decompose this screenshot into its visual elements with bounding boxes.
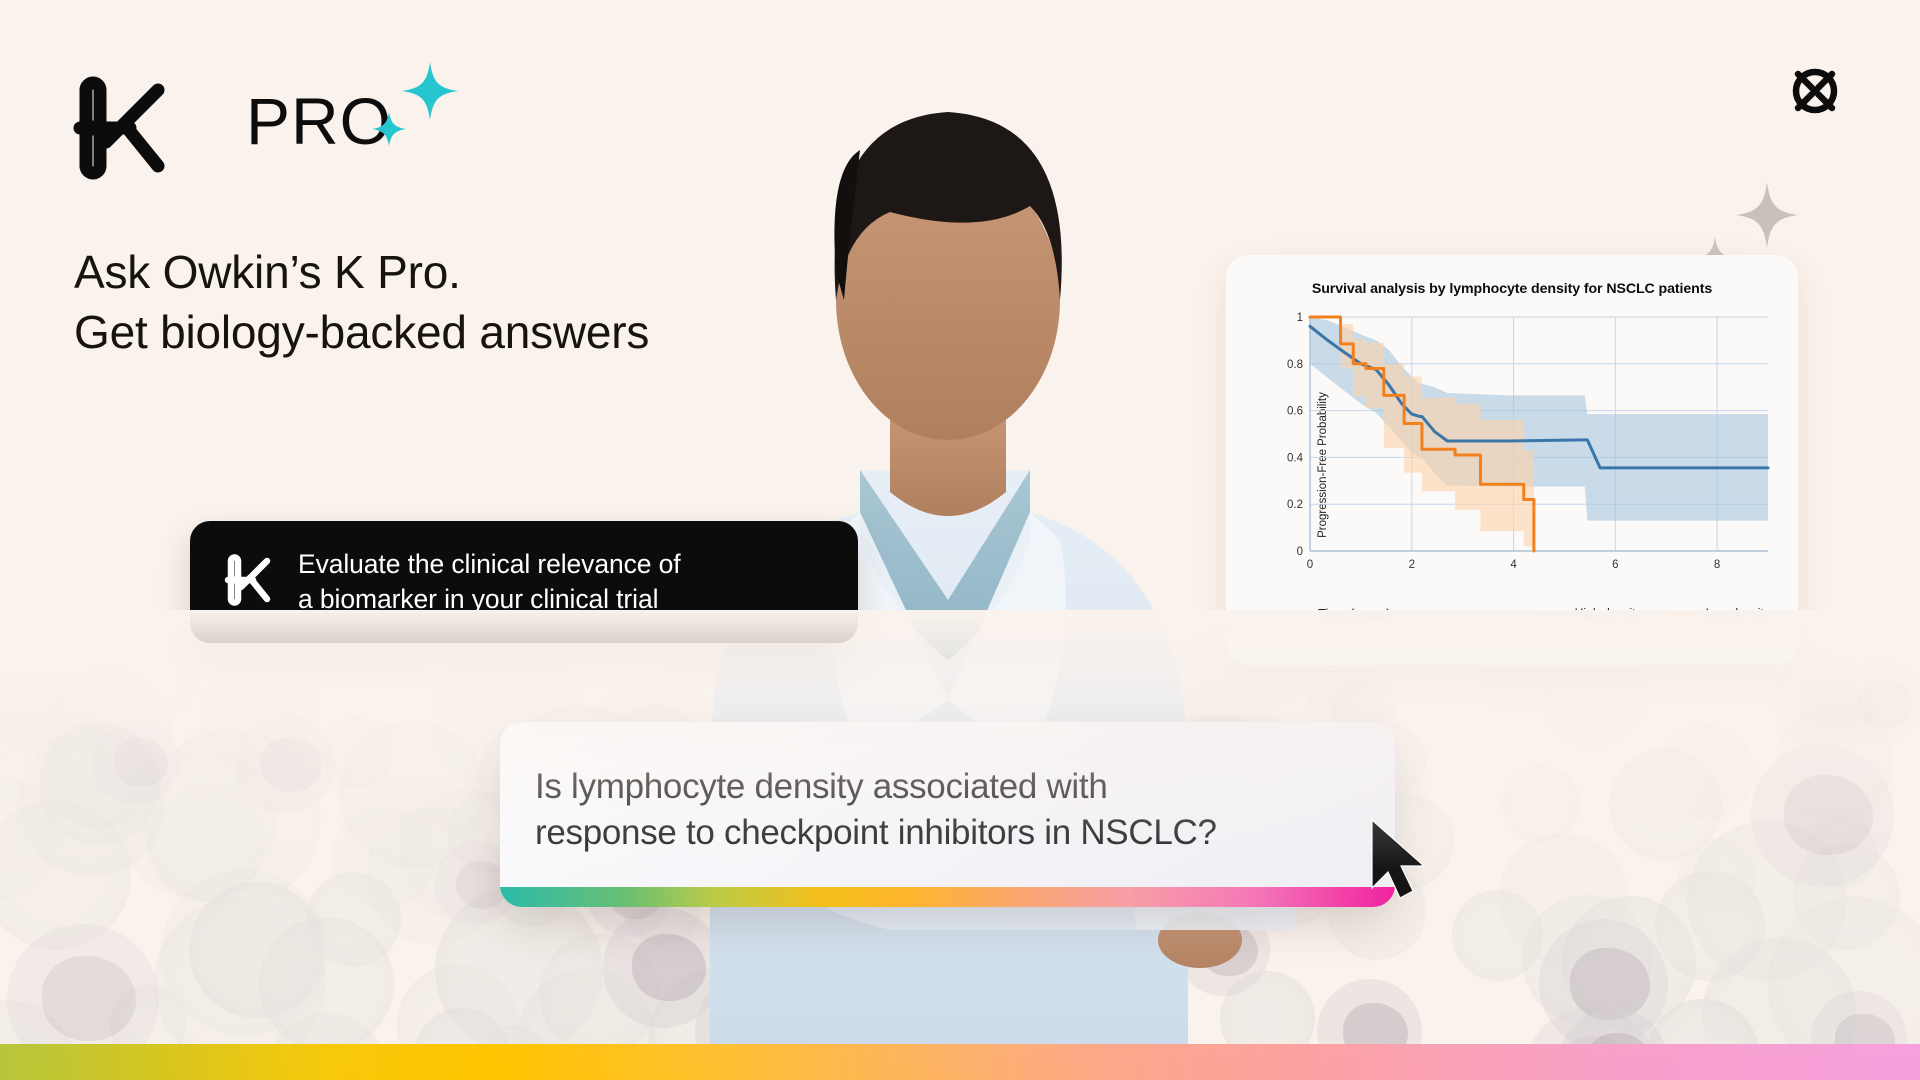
background-cell-nucleated [1176, 902, 1270, 996]
question-input-card[interactable]: Is lymphocyte density associated with re… [500, 722, 1395, 907]
background-cell-nucleus [114, 738, 168, 786]
prompt-suggestion-pill[interactable]: Evaluate the clinical relevance of a bio… [190, 521, 858, 643]
gradient-underline [500, 887, 1395, 907]
prompt-line-1: Evaluate the clinical relevance of [298, 549, 681, 579]
promo-banner: PRO Ask Owkin’s K Pro. Get biology-backe… [0, 0, 1920, 1080]
background-cell [1452, 890, 1543, 981]
mouse-pointer-cursor [1368, 818, 1430, 905]
background-cell-nucleated [1773, 649, 1876, 752]
legend-label-high: High density [1575, 606, 1642, 620]
background-cell-nucleus [1570, 948, 1650, 1020]
legend-label-low: Low density [1706, 606, 1770, 620]
background-cell [46, 668, 172, 794]
svg-text:1: 1 [1297, 312, 1303, 324]
sparkle-grey-large-icon [1736, 182, 1798, 253]
background-cell [1687, 821, 1847, 981]
background-cell [1678, 838, 1756, 916]
background-cell [435, 887, 603, 1055]
background-cell [114, 635, 199, 720]
background-cell [1655, 871, 1764, 980]
sparkle-large-icon [402, 62, 458, 125]
background-cell [142, 729, 321, 908]
background-cell-nucleated [235, 714, 335, 814]
background-cell-nucleated [92, 718, 179, 805]
background-cell [38, 722, 160, 844]
background-cell [1609, 748, 1721, 860]
background-cell [189, 882, 325, 1018]
logo-pro-text: PRO [246, 88, 392, 154]
background-cell [1775, 703, 1894, 822]
background-cell-nucleus [1200, 924, 1258, 976]
background-cell [306, 872, 401, 967]
background-cell-nucleated [1032, 913, 1177, 1058]
background-cell [1012, 610, 1118, 674]
background-cell-nucleated [1836, 659, 1920, 746]
legend-item-low-density: Low density [1668, 606, 1770, 620]
background-cell [44, 721, 152, 829]
background-cell [259, 917, 393, 1051]
legend-swatch-low [1668, 611, 1698, 615]
background-cell [322, 717, 393, 788]
background-cell [161, 869, 328, 1036]
background-cell [332, 806, 437, 911]
background-cell [0, 686, 107, 825]
chart-x-axis-label: Time (years) [1318, 606, 1390, 621]
svg-text:0.8: 0.8 [1287, 359, 1303, 371]
background-cell [0, 800, 131, 950]
background-cell-nucleus [1859, 679, 1913, 727]
prompt-line-2: a biomarker in your clinical trial [298, 584, 658, 614]
background-cell-nucleated [603, 907, 723, 1027]
page-title: Ask Owkin’s K Pro. Get biology-backed an… [74, 243, 649, 363]
prompt-pill-text: Evaluate the clinical relevance of a bio… [298, 547, 681, 618]
background-cell [1806, 816, 1878, 888]
svg-text:6: 6 [1612, 559, 1618, 571]
background-cell [0, 610, 122, 758]
background-cell-nucleated [1539, 919, 1668, 1048]
chart-legend: High density Low density [1537, 606, 1770, 620]
survival-chart-card: Survival analysis by lymphocyte density … [1226, 255, 1798, 665]
background-cell [18, 730, 165, 877]
question-line-1: Is lymphocyte density associated with [535, 767, 1108, 806]
owkin-k-logo [72, 72, 176, 189]
background-cell [1522, 895, 1651, 1024]
brand-gradient-bar [0, 1044, 1920, 1080]
svg-text:8: 8 [1714, 559, 1720, 571]
headline-line-1: Ask Owkin’s K Pro. [74, 246, 461, 298]
svg-text:0.4: 0.4 [1287, 452, 1304, 464]
background-cell [813, 904, 920, 1011]
background-cell [0, 684, 67, 766]
background-cell [1562, 896, 1696, 1030]
svg-text:2: 2 [1409, 559, 1415, 571]
background-cell [1657, 724, 1754, 821]
background-cell [339, 721, 487, 869]
background-cell [120, 745, 276, 901]
svg-text:4: 4 [1510, 559, 1517, 571]
k-glyph-icon [224, 551, 276, 614]
background-cell [1151, 618, 1229, 696]
background-cell-nucleus [938, 954, 1014, 1022]
brand-logo: PRO [72, 62, 492, 182]
background-cell [539, 933, 660, 1054]
background-cell-nucleus [1066, 945, 1156, 1026]
background-cell-nucleus [260, 737, 322, 793]
background-cell-nucleated [909, 927, 1031, 1049]
background-cell-nucleated [1751, 744, 1895, 888]
background-cell-nucleus [42, 956, 136, 1040]
headline-line-2: Get biology-backed answers [74, 303, 649, 363]
owkin-circle-x-mark [1786, 62, 1844, 125]
background-cell [1793, 843, 1900, 950]
question-line-2: response to checkpoint inhibitors in NSC… [535, 813, 1217, 852]
legend-item-high-density: High density [1537, 606, 1642, 620]
background-cell [201, 655, 321, 775]
svg-text:0.2: 0.2 [1287, 499, 1303, 511]
chart-title: Survival analysis by lymphocyte density … [1248, 281, 1776, 297]
background-cell-nucleus [1784, 775, 1873, 855]
background-cell [76, 730, 171, 825]
background-cell [898, 610, 998, 685]
background-cell [1498, 833, 1629, 964]
background-cell [154, 897, 326, 1069]
background-cell [176, 724, 256, 804]
svg-text:0: 0 [1297, 546, 1303, 558]
background-cell [1502, 765, 1580, 843]
question-text: Is lymphocyte density associated with re… [535, 764, 1375, 856]
chart-plot-area: Progression-Free Probability 0246800.20.… [1248, 307, 1776, 623]
svg-text:0: 0 [1307, 559, 1313, 571]
background-cell [147, 785, 264, 902]
background-cell-nucleus [1798, 673, 1862, 730]
svg-text:0.6: 0.6 [1287, 406, 1303, 418]
background-cell [366, 806, 505, 945]
background-cell [0, 778, 61, 899]
legend-swatch-high [1537, 611, 1567, 615]
background-cell-nucleus [632, 934, 707, 1001]
sparkle-small-icon [372, 112, 406, 151]
